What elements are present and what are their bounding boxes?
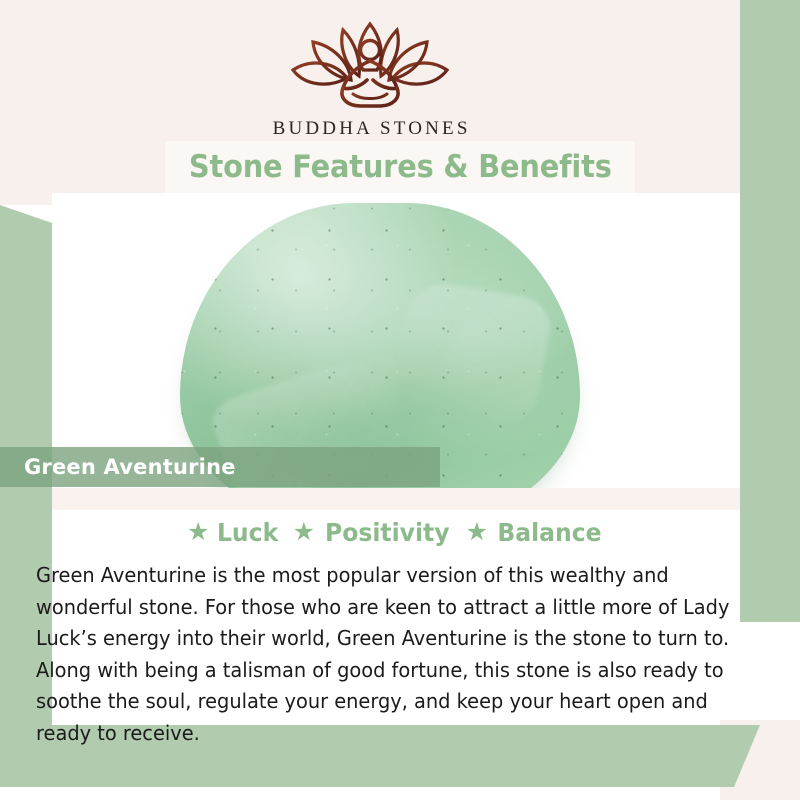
star-icon: ★: [466, 520, 488, 545]
title-card: Stone Features & Benefits: [165, 141, 635, 193]
benefit-item-luck: ★ Luck: [187, 518, 281, 547]
benefit-label: Positivity: [325, 518, 450, 547]
page-title: Stone Features & Benefits: [189, 149, 612, 185]
green-right-strip: [740, 0, 800, 622]
benefit-item-positivity: ★ Positivity: [293, 518, 454, 547]
description-paragraph: Green Aventurine is the most popular ver…: [36, 560, 743, 749]
green-aventurine-stone: [180, 203, 580, 488]
benefits-row: ★ Luck ★ Positivity ★ Balance: [52, 518, 740, 547]
benefit-label: Balance: [497, 518, 601, 547]
benefit-label: Luck: [217, 518, 278, 547]
benefit-item-balance: ★ Balance: [466, 518, 605, 547]
star-icon: ★: [187, 520, 209, 545]
lotus-meditation-icon: [0, 18, 740, 114]
stone-speckle-texture: [180, 203, 580, 488]
poster-root: BUDDHA STONES Stone Features & Benefits …: [0, 0, 800, 800]
product-name-bar: Green Aventurine: [0, 447, 440, 487]
product-image: [52, 193, 740, 488]
beige-divider: [52, 488, 740, 510]
product-name-label: Green Aventurine: [24, 455, 236, 479]
brand-logo-block: BUDDHA STONES: [0, 18, 740, 140]
star-icon: ★: [293, 520, 315, 545]
brand-wordmark: BUDDHA STONES: [0, 118, 740, 140]
